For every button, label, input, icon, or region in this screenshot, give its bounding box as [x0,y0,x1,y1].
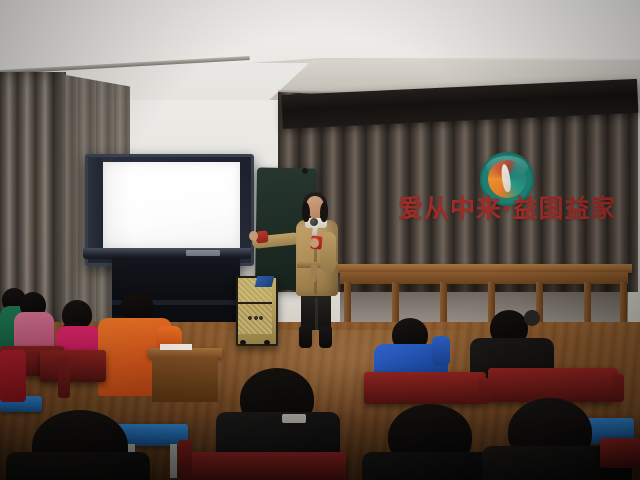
amplifier-badge [255,276,275,287]
audience-body-foreground [6,452,150,480]
audience-arm-raised [432,336,450,366]
audience-red-item [0,350,26,402]
hoodie-print-detail [282,414,306,423]
presenter-right-hand [310,238,319,248]
presenter-hair-right [320,202,328,222]
auditorium-chair-back[interactable] [40,350,106,382]
auditorium-chair-arm [612,374,624,402]
paper-on-desk [160,344,192,350]
auditorium-chair-arm [58,356,70,398]
auditorium-chair-back[interactable] [600,438,640,468]
auditorium-chair-arm [478,378,490,404]
presenter-hair-left [302,202,310,222]
amplifier-caster-right [264,340,270,345]
whiteboard-side-bezel [88,158,102,256]
chalkboard-knob-icon [302,168,308,174]
whiteboard-brand-label [186,250,220,256]
microphone-capsule-icon [310,218,318,226]
wall-slogan-text: 爱从中来·益国益家 [398,194,640,224]
amplifier-knobs-icon[interactable] [247,316,263,320]
presenter-leg-separation [315,298,318,330]
auditorium-chair-back[interactable] [364,372,486,404]
presenter-left-hand [249,231,258,241]
school-crest-gloss [486,156,528,178]
presenter-boot-right [319,326,332,348]
auditorium-chair-arm [178,440,192,480]
auditorium-photo: 爱从中来·益国益家 [0,0,640,480]
audience-hair-bun [524,310,540,326]
presenter-boot-left [299,326,312,348]
whiteboard-screen[interactable] [103,162,240,248]
auditorium-chair-back[interactable] [186,452,346,480]
student-desk-body [152,356,218,402]
seat-leg [170,444,177,478]
audience-body-foreground [362,452,498,480]
amplifier-caster-left [240,340,246,345]
curtain-left [0,72,66,322]
auditorium-chair-back[interactable] [488,368,618,402]
